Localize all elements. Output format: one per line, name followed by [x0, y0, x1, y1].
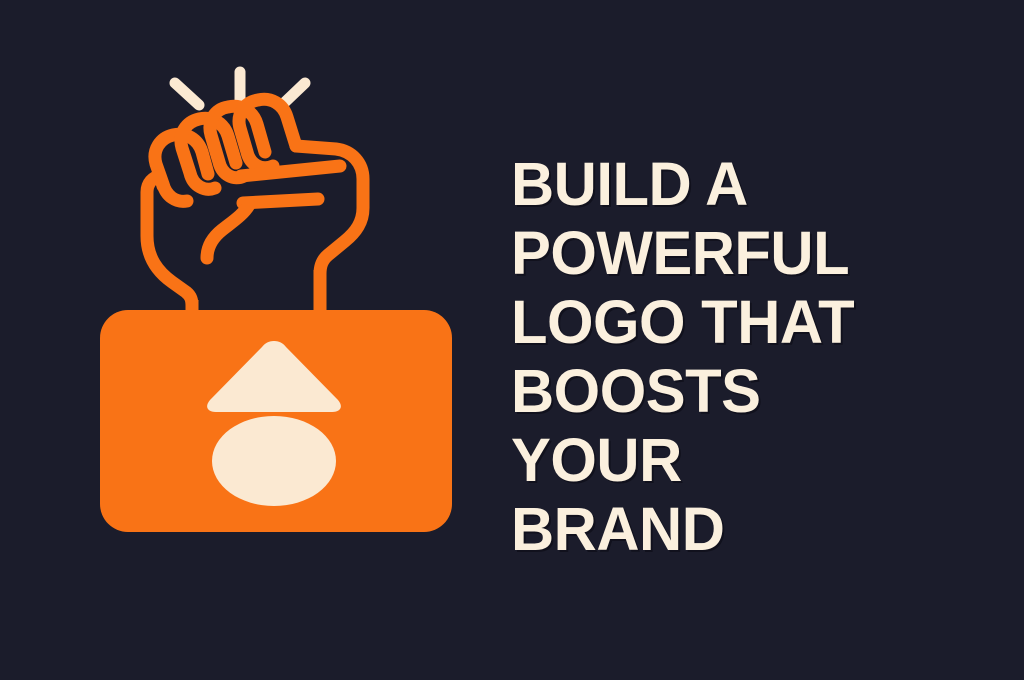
fist-thumb-curve-icon	[207, 205, 249, 258]
headline-line-2: POWERFUL	[511, 219, 972, 288]
card-ellipse-mark	[212, 416, 336, 506]
headline-line-1: BUILD A	[511, 150, 972, 219]
headline-line-4: BOOSTS	[511, 357, 972, 426]
headline-line-3: LOGO THAT	[511, 288, 972, 357]
impact-line-right-icon	[283, 83, 305, 104]
headline-line-5: YOUR	[511, 426, 972, 495]
fist-icon	[147, 99, 363, 330]
poster-canvas: BUILD A POWERFUL LOGO THAT BOOSTS YOUR B…	[0, 0, 1024, 680]
headline-block: BUILD A POWERFUL LOGO THAT BOOSTS YOUR B…	[511, 150, 981, 564]
headline-line-6: BRAND	[511, 495, 972, 564]
raised-fist-logo-svg	[0, 0, 500, 680]
logo-graphic	[0, 0, 500, 680]
impact-lines-group	[175, 72, 305, 105]
impact-line-left-icon	[175, 83, 199, 105]
